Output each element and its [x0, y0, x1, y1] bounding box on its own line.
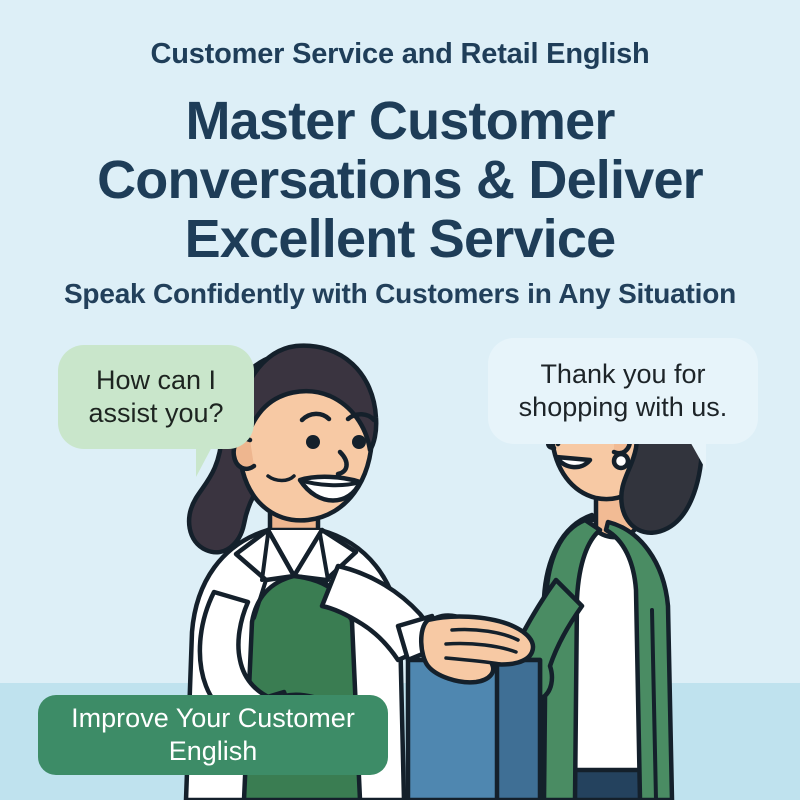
- page-title: Master Customer Conversations & Deliver …: [40, 92, 760, 269]
- bubble-right-line-2: shopping with us.: [519, 391, 728, 424]
- eyebrow-text: Customer Service and Retail English: [0, 38, 800, 71]
- speech-bubble-tail-icon: [196, 443, 224, 477]
- poster-canvas: Customer Service and Retail English Mast…: [0, 0, 800, 800]
- cta-badge-label: Improve Your Customer English: [54, 702, 372, 768]
- speech-bubble-tail-icon: [678, 438, 706, 470]
- speech-bubble-assistant: How can I assist you?: [58, 345, 254, 449]
- speech-bubble-customer: Thank you for shopping with us.: [488, 338, 758, 444]
- bubble-right-line-1: Thank you for: [519, 358, 728, 391]
- speech-bubble-assistant-text: How can I assist you?: [88, 364, 223, 430]
- subheadline-text: Speak Confidently with Customers in Any …: [0, 278, 800, 310]
- headline-line-3: Excellent Service: [40, 210, 760, 269]
- cta-badge[interactable]: Improve Your Customer English: [38, 695, 388, 775]
- bubble-left-line-1: How can I: [88, 364, 223, 397]
- headline-line-2: Conversations & Deliver: [40, 151, 760, 210]
- speech-bubble-customer-text: Thank you for shopping with us.: [519, 358, 728, 424]
- headline-line-1: Master Customer: [40, 92, 760, 151]
- bubble-left-line-2: assist you?: [88, 397, 223, 430]
